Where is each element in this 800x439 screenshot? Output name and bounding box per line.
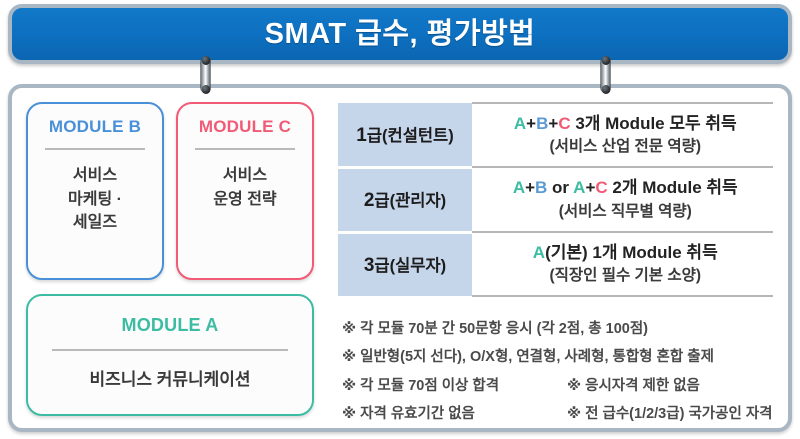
grade-competency-text: (서비스 산업 전문 역량) — [478, 137, 773, 157]
note-text: ※ 각 모듈 70분 간 50문항 응시 (각 2점, 총 100점) — [342, 315, 648, 343]
module-b-desc-line: 마케팅 · — [68, 188, 122, 212]
module-b-title: MODULE B — [49, 118, 141, 135]
requirement-token: + — [548, 114, 558, 133]
requirement-token: 2개 Module 취득 — [608, 178, 738, 197]
requirement-token: C — [558, 114, 570, 133]
grade-level-label: 1급(컨설턴트) — [338, 103, 472, 167]
module-a-description: 비즈니스 커뮤니케이션 — [89, 367, 250, 392]
module-a-desc-line: 비즈니스 커뮤니케이션 — [89, 367, 250, 392]
main-panel: MODULE B 서비스 마케팅 · 세일즈 MODULE C 서비스 운영 전… — [8, 84, 792, 432]
connector-pin-right-icon — [601, 58, 610, 92]
grade-requirement-text: A(기본) 1개 Module 취득 — [478, 242, 773, 263]
grade-table: 1급(컨설턴트)A+B+C 3개 Module 모두 취득(서비스 산업 전문 … — [338, 102, 773, 297]
module-c-desc-line: 운영 전략 — [213, 188, 276, 212]
requirement-token: C — [595, 178, 607, 197]
requirement-token: B — [536, 114, 548, 133]
grade-requirement-text: A+B+C 3개 Module 모두 취득 — [478, 113, 773, 134]
note-text: ※ 자격 유효기간 없음 — [342, 400, 547, 428]
module-card-a: MODULE A 비즈니스 커뮤니케이션 — [26, 294, 314, 416]
note-text: ※ 응시자격 제한 없음 — [567, 372, 700, 400]
grade-role: 급(관리자) — [374, 192, 446, 210]
grade-level-label: 2급(관리자) — [338, 167, 472, 232]
page-title: SMAT 급수, 평가방법 — [265, 20, 536, 49]
module-c-description: 서비스 운영 전략 — [213, 164, 276, 211]
grade-requirement-cell: A(기본) 1개 Module 취득(직장인 필수 기본 소양) — [472, 232, 773, 296]
note-text: ※ 일반형(5지 선다), O/X형, 연결형, 사례형, 통합형 혼합 출제 — [342, 343, 714, 371]
grade-number: 2 — [364, 190, 375, 211]
requirement-token: A — [533, 243, 545, 262]
requirement-token: + — [585, 178, 595, 197]
grade-requirement-cell: A+B+C 3개 Module 모두 취득(서비스 산업 전문 역량) — [472, 103, 773, 167]
infographic-root: SMAT 급수, 평가방법 MODULE B 서비스 마케팅 · 세일즈 MOD… — [0, 0, 800, 439]
modules-column: MODULE B 서비스 마케팅 · 세일즈 MODULE C 서비스 운영 전… — [26, 98, 326, 418]
requirement-token: + — [526, 114, 536, 133]
modules-top-row: MODULE B 서비스 마케팅 · 세일즈 MODULE C 서비스 운영 전… — [26, 102, 326, 280]
requirement-token: A — [513, 178, 525, 197]
note-text: ※ 각 모듈 70점 이상 합격 — [342, 372, 547, 400]
grade-number: 3 — [364, 255, 375, 276]
requirement-token: 3개 Module 모두 취득 — [571, 114, 737, 133]
note-line: ※ 일반형(5지 선다), O/X형, 연결형, 사례형, 통합형 혼합 출제 — [342, 343, 773, 371]
module-c-desc-line: 서비스 — [213, 164, 276, 188]
connector-pin-left-icon — [201, 58, 210, 92]
module-b-desc-line: 세일즈 — [68, 211, 122, 235]
module-b-description: 서비스 마케팅 · 세일즈 — [68, 164, 122, 235]
requirement-token: or — [547, 178, 573, 197]
requirement-token: B — [535, 178, 547, 197]
grade-table-row: 1급(컨설턴트)A+B+C 3개 Module 모두 취득(서비스 산업 전문 … — [338, 103, 773, 167]
module-card-c: MODULE C 서비스 운영 전략 — [176, 102, 314, 280]
note-line: ※ 각 모듈 70분 간 50문항 응시 (각 2점, 총 100점) — [342, 315, 773, 343]
grade-level-label: 3급(실무자) — [338, 232, 472, 296]
requirement-token: A — [573, 178, 585, 197]
grade-number: 1 — [356, 125, 367, 146]
grade-role: 급(컨설턴트) — [367, 127, 454, 145]
note-text: ※ 전 급수(1/2/3급) 국가공인 자격 — [567, 400, 773, 428]
grade-table-row: 3급(실무자)A(기본) 1개 Module 취득(직장인 필수 기본 소양) — [338, 232, 773, 296]
grade-competency-text: (서비스 직무별 역량) — [478, 202, 773, 222]
note-line: ※ 자격 유효기간 없음※ 전 급수(1/2/3급) 국가공인 자격 — [342, 400, 773, 428]
module-a-title: MODULE A — [122, 316, 219, 334]
module-c-divider — [195, 148, 294, 150]
requirement-token: + — [525, 178, 535, 197]
grade-requirement-cell: A+B or A+C 2개 Module 취득(서비스 직무별 역량) — [472, 167, 773, 232]
grade-competency-text: (직장인 필수 기본 소양) — [478, 266, 773, 286]
header-banner: SMAT 급수, 평가방법 — [8, 4, 792, 64]
module-b-divider — [45, 148, 144, 150]
module-card-b: MODULE B 서비스 마케팅 · 세일즈 — [26, 102, 164, 280]
grade-requirement-text: A+B or A+C 2개 Module 취득 — [478, 177, 773, 198]
grade-table-row: 2급(관리자)A+B or A+C 2개 Module 취득(서비스 직무별 역… — [338, 167, 773, 232]
grade-role: 급(실무자) — [374, 257, 446, 275]
requirement-token: A — [514, 114, 526, 133]
grade-column: 1급(컨설턴트)A+B+C 3개 Module 모두 취득(서비스 산업 전문 … — [326, 98, 779, 418]
notes-list: ※ 각 모듈 70분 간 50문항 응시 (각 2점, 총 100점)※ 일반형… — [338, 315, 773, 428]
note-line: ※ 각 모듈 70점 이상 합격※ 응시자격 제한 없음 — [342, 372, 773, 400]
module-b-desc-line: 서비스 — [68, 164, 122, 188]
module-a-divider — [52, 349, 288, 351]
module-c-title: MODULE C — [199, 118, 291, 135]
requirement-token: (기본) 1개 Module 취득 — [545, 243, 718, 262]
